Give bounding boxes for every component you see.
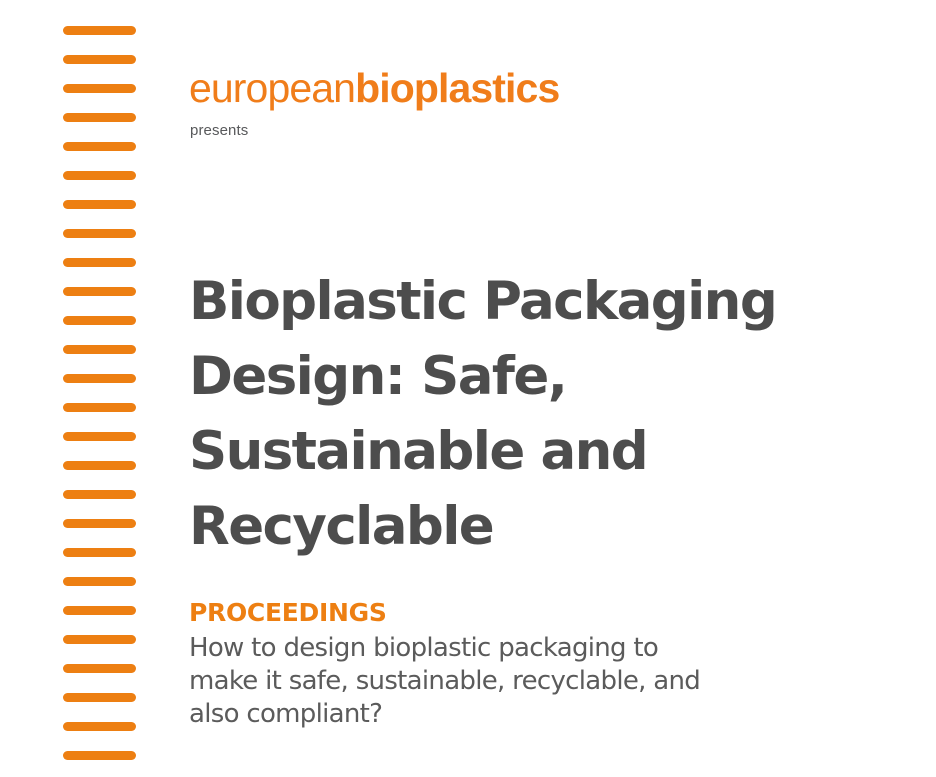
orange-bar (63, 84, 136, 93)
orange-bar (63, 26, 136, 35)
orange-bar (63, 693, 136, 702)
orange-bar-stripes (63, 0, 136, 777)
logo-word-bioplastics: bioplastics (355, 65, 559, 111)
subtitle-line: How to design bioplastic packaging to (189, 632, 789, 665)
orange-bar (63, 432, 136, 441)
orange-bar (63, 664, 136, 673)
proceedings-kicker: PROCEEDINGS (189, 598, 387, 628)
orange-bar (63, 55, 136, 64)
orange-bar (63, 374, 136, 383)
orange-bar (63, 200, 136, 209)
cover-content: europeanbioplastics presents Bioplastic … (189, 0, 889, 777)
orange-bar (63, 635, 136, 644)
orange-bar (63, 403, 136, 412)
page-title: Bioplastic Packaging Design: Safe, Susta… (189, 264, 849, 564)
orange-bar (63, 577, 136, 586)
orange-bar (63, 258, 136, 267)
orange-bar (63, 490, 136, 499)
logo-word-european: european (189, 65, 355, 111)
subtitle-line: make it safe, sustainable, recyclable, a… (189, 665, 789, 698)
presents-label: presents (190, 121, 248, 141)
orange-bar (63, 113, 136, 122)
cover-page: europeanbioplastics presents Bioplastic … (0, 0, 936, 777)
orange-bar (63, 345, 136, 354)
orange-bar (63, 548, 136, 557)
orange-bar (63, 287, 136, 296)
subtitle-line: also compliant? (189, 698, 789, 731)
orange-bar (63, 722, 136, 731)
european-bioplastics-logo: europeanbioplastics (189, 66, 559, 110)
subtitle-text: How to design bioplastic packaging to ma… (189, 632, 789, 731)
orange-bar (63, 606, 136, 615)
orange-bar (63, 171, 136, 180)
orange-bar (63, 229, 136, 238)
orange-bar (63, 519, 136, 528)
orange-bar (63, 461, 136, 470)
orange-bar (63, 316, 136, 325)
orange-bar (63, 142, 136, 151)
orange-bar (63, 751, 136, 760)
